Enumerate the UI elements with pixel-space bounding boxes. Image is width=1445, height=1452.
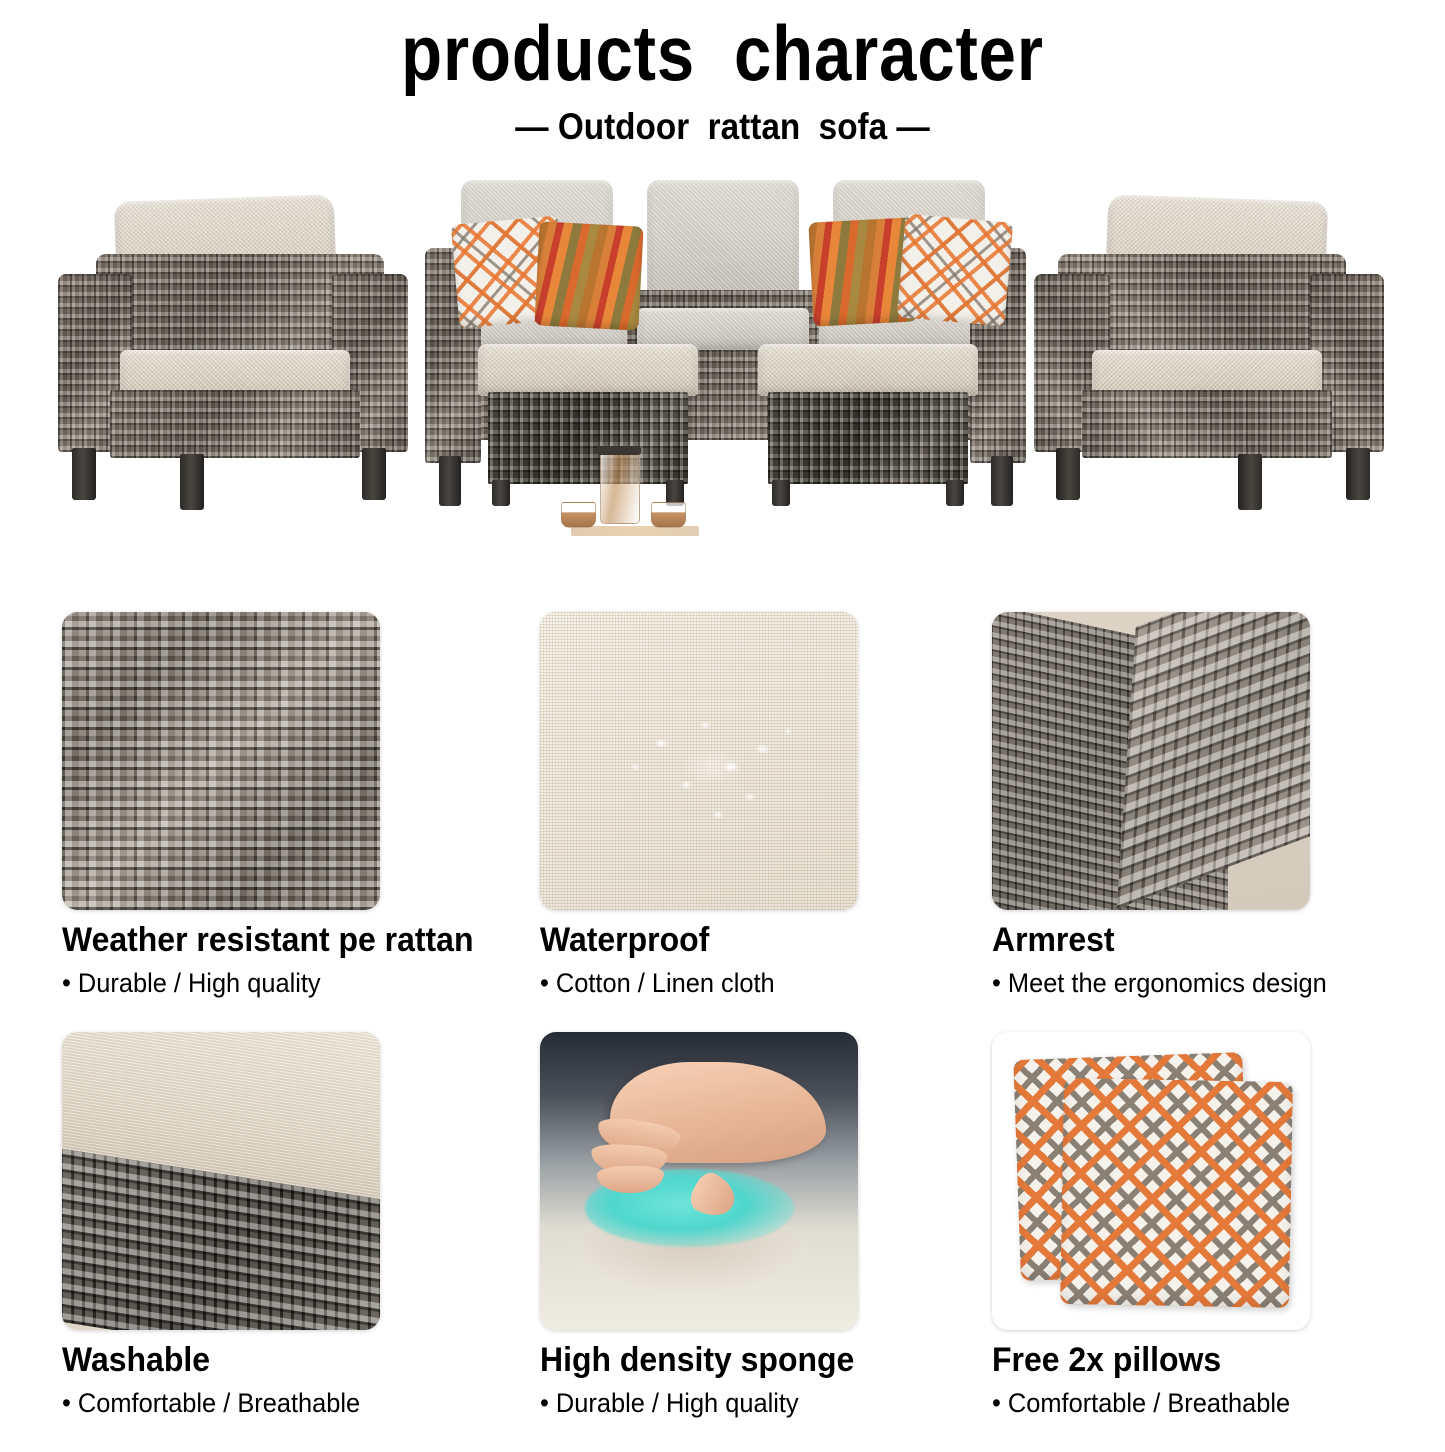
feature-card-weather-resistant-pe-rattan[interactable]: Weather resistant pe rattan • Durable / … bbox=[62, 612, 500, 998]
feature-subtext: • Comfortable / Breathable bbox=[992, 1389, 1291, 1419]
feature-card-waterproof[interactable]: Waterproof • Cotton / Linen cloth bbox=[540, 612, 858, 998]
page-title: products character bbox=[101, 14, 1344, 92]
ottoman-cushion bbox=[758, 344, 978, 396]
throw-pillow-striped bbox=[534, 221, 643, 330]
feature-row-1: Weather resistant pe rattan • Durable / … bbox=[0, 612, 1445, 1032]
feature-card-high-density-sponge[interactable]: High density sponge • Durable / High qua… bbox=[540, 1032, 874, 1418]
tea-cup bbox=[561, 502, 596, 528]
french-press-pitcher bbox=[600, 452, 640, 524]
feature-subtext: • Durable / High quality bbox=[540, 1389, 854, 1419]
armchair-leg bbox=[1238, 454, 1262, 510]
hand-pressing-memory-foam-icon bbox=[540, 1032, 858, 1330]
feature-subtext: • Meet the ergonomics design bbox=[992, 969, 1327, 999]
sofa-leg bbox=[439, 456, 461, 506]
armchair-leg bbox=[362, 448, 386, 500]
sofa-back-cushion bbox=[647, 180, 799, 308]
throw-pillow-geometric bbox=[897, 213, 1014, 326]
armchair-leg bbox=[180, 454, 204, 510]
pe-rattan-weave-texture-icon bbox=[62, 612, 380, 910]
zippered-cushion-cover-icon bbox=[62, 1032, 380, 1330]
feature-subtext: • Cotton / Linen cloth bbox=[540, 969, 839, 999]
feature-label: Washable bbox=[62, 1343, 361, 1379]
ottoman-cushion bbox=[478, 344, 698, 396]
feature-subtext: • Durable / High quality bbox=[62, 969, 473, 999]
feature-label: Armrest bbox=[992, 923, 1327, 959]
ottoman-leg bbox=[772, 480, 790, 506]
feature-label: Free 2x pillows bbox=[992, 1343, 1291, 1379]
armchair-front-panel bbox=[1082, 390, 1332, 458]
ottoman-leg bbox=[492, 480, 510, 506]
ottoman-frame bbox=[768, 392, 968, 484]
armchair-leg bbox=[1056, 448, 1080, 500]
ottoman-leg bbox=[946, 480, 964, 506]
tea-cup bbox=[651, 502, 686, 528]
feature-card-free-2x-pillows[interactable]: Free 2x pillows • Comfortable / Breathab… bbox=[992, 1032, 1310, 1418]
armchair-leg bbox=[72, 448, 96, 500]
feature-label: Weather resistant pe rattan bbox=[62, 923, 473, 959]
sofa-leg bbox=[991, 456, 1013, 506]
header: products character — Outdoor rattan sofa… bbox=[0, 0, 1445, 148]
feature-subtext: • Comfortable / Breathable bbox=[62, 1389, 361, 1419]
feature-grid: Weather resistant pe rattan • Durable / … bbox=[0, 612, 1445, 1452]
armchair-leg bbox=[1346, 448, 1370, 500]
feature-card-armrest[interactable]: Armrest • Meet the ergonomics design bbox=[992, 612, 1348, 998]
feature-card-washable[interactable]: Washable • Comfortable / Breathable bbox=[62, 1032, 380, 1418]
page-subtitle: — Outdoor rattan sofa — bbox=[72, 106, 1373, 148]
ottoman-right bbox=[758, 344, 978, 494]
two-geometric-throw-pillows-icon bbox=[992, 1032, 1310, 1330]
hero-product-image bbox=[0, 162, 1445, 562]
pillow-front bbox=[1060, 1078, 1293, 1308]
pitcher-lid bbox=[597, 446, 641, 455]
feature-label: High density sponge bbox=[540, 1343, 854, 1379]
woven-armrest-corner-icon bbox=[992, 612, 1310, 910]
feature-label: Waterproof bbox=[540, 923, 839, 959]
left-armchair bbox=[50, 162, 420, 522]
tea-set bbox=[555, 444, 715, 556]
armchair-front-panel bbox=[110, 390, 360, 458]
right-armchair bbox=[1022, 162, 1392, 522]
water-droplets-on-linen-icon bbox=[540, 612, 858, 910]
feature-row-2: Washable • Comfortable / Breathable High… bbox=[0, 1032, 1445, 1452]
